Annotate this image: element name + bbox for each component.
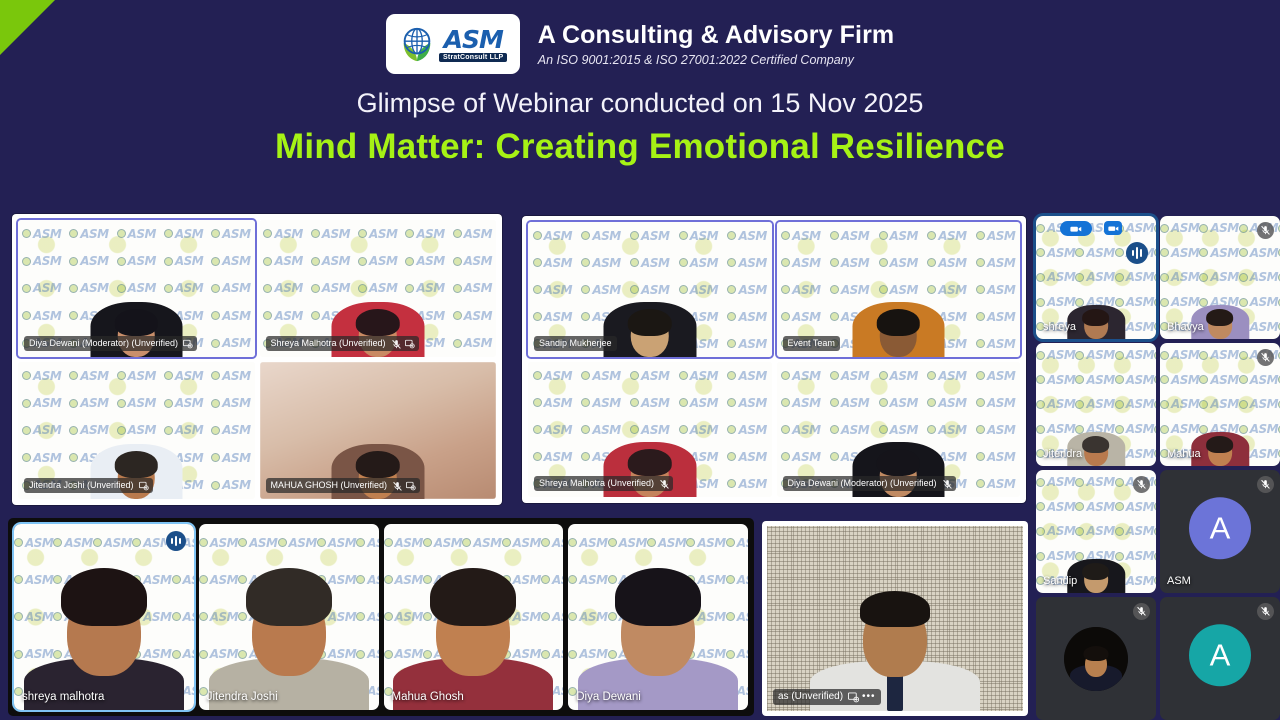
- asm-watermark: ASM: [976, 337, 1015, 351]
- asm-watermark: ASM: [781, 256, 820, 270]
- asm-watermark: ASM: [533, 310, 572, 324]
- participant-nameplate: Diya Dewani (Moderator) (Unverified): [24, 336, 197, 351]
- video-tile[interactable]: ASMASMASMASMASMASMASMASMASMASMASMASMASMA…: [528, 222, 772, 357]
- asm-watermark: ASM: [1075, 348, 1114, 362]
- asm-watermark: ASM: [1075, 475, 1114, 489]
- asm-watermark: ASM: [263, 309, 302, 323]
- filmstrip-participant-name: Mahua Ghosh: [392, 691, 464, 703]
- asm-watermark: ASM: [976, 229, 1015, 243]
- asm-watermark: ASM: [22, 227, 61, 241]
- asm-watermark: ASM: [263, 254, 302, 268]
- share-screen-icon: [406, 481, 415, 490]
- asm-watermark: ASM: [117, 369, 156, 383]
- asm-watermark: ASM: [727, 229, 766, 243]
- asm-watermark: ASM: [727, 337, 766, 351]
- sidebar-participant-tile[interactable]: ASMASMASMASMASMASMASMASMASMASMASMASMASMA…: [1036, 343, 1156, 466]
- participant-figure: [573, 560, 743, 710]
- asm-watermark: ASM: [727, 450, 766, 464]
- share-screen-icon: [183, 339, 192, 348]
- asm-watermark: ASM: [1036, 373, 1075, 387]
- participant-nameplate: Jitendra Joshi (Unverified): [24, 478, 153, 493]
- globe-leaf-icon: [398, 25, 436, 63]
- asm-watermark: ASM: [647, 536, 686, 550]
- asm-watermark: ASM: [117, 227, 156, 241]
- sidebar-participant-name: Jitendra: [1043, 448, 1082, 460]
- asm-watermark: ASM: [211, 281, 250, 295]
- asm-watermark: ASM: [976, 283, 1015, 297]
- sidebar-participant-tile[interactable]: ASMASMASMASMASMASMASMASMASMASMASMASMASMA…: [1160, 343, 1280, 466]
- asm-watermark: ASM: [356, 536, 378, 550]
- asm-watermark: ASM: [830, 229, 869, 243]
- asm-watermark: ASM: [1075, 246, 1114, 260]
- asm-watermark: ASM: [630, 369, 669, 383]
- video-tile[interactable]: ASMASMASMASMASMASMASMASMASMASMASMASMASMA…: [18, 362, 255, 499]
- solo-speaker-panel: as (Unverified) •••: [762, 521, 1028, 716]
- mic-off-icon: [942, 479, 951, 488]
- asm-watermark: ASM: [727, 396, 766, 410]
- webinar-title: Mind Matter: Creating Emotional Resilien…: [275, 127, 1005, 167]
- asm-watermark: ASM: [686, 536, 725, 550]
- asm-watermark: ASM: [1115, 500, 1154, 514]
- center-grid: ASMASMASMASMASMASMASMASMASMASMASMASMASMA…: [528, 222, 1020, 497]
- asm-watermark: ASM: [263, 281, 302, 295]
- participant-nameplate: Shreya Malhotra (Unverified): [534, 476, 673, 491]
- asm-watermark: ASM: [238, 536, 277, 550]
- asm-watermark: ASM: [453, 227, 492, 241]
- asm-watermark: ASM: [1154, 373, 1156, 387]
- solo-speaker-name: as (Unverified): [778, 691, 843, 704]
- asm-watermark: ASM: [453, 254, 492, 268]
- asm-watermark: ASM: [1154, 447, 1156, 461]
- sidebar-participant-tile[interactable]: AASM: [1160, 470, 1280, 593]
- sidebar-participant-tile[interactable]: ASMASMASMASMASMASMASMASMASMASMASMASMASMA…: [1160, 216, 1280, 339]
- asm-watermark: ASM: [211, 254, 250, 268]
- asm-watermark: ASM: [727, 423, 766, 437]
- audio-wave-icon: [166, 531, 186, 551]
- asm-watermark: ASM: [727, 477, 766, 491]
- asm-watermark: ASM: [263, 227, 302, 241]
- asm-watermark: ASM: [211, 309, 250, 323]
- left-grid: ASMASMASMASMASMASMASMASMASMASMASMASMASMA…: [18, 220, 496, 499]
- video-tile[interactable]: ASMASMASMASMASMASMASMASMASMASMASMASMASMA…: [777, 362, 1021, 497]
- asm-watermark: ASM: [541, 536, 563, 550]
- asm-watermark: ASM: [1115, 348, 1154, 362]
- filmstrip-participant-tile[interactable]: ASMASMASMASMASMASMASMASMASMASMASMASMASMA…: [14, 524, 194, 710]
- asm-watermark: ASM: [726, 536, 748, 550]
- asm-watermark: ASM: [679, 229, 718, 243]
- asm-watermark: ASM: [533, 229, 572, 243]
- asm-watermark: ASM: [164, 369, 203, 383]
- asm-watermark: ASM: [1160, 221, 1199, 235]
- brand-subtitle: An ISO 9001:2015 & ISO 27001:2022 Certif…: [538, 53, 895, 67]
- asm-watermark: ASM: [976, 450, 1015, 464]
- asm-watermark: ASM: [211, 369, 250, 383]
- asm-watermark: ASM: [1036, 500, 1075, 514]
- asm-watermark: ASM: [1199, 373, 1238, 387]
- asm-watermark: ASM: [781, 423, 820, 437]
- asm-logo: ASM StratConsult LLP: [386, 14, 520, 74]
- sidebar-participant-name: Mahua: [1167, 448, 1201, 460]
- brand-title: A Consulting & Advisory Firm: [538, 21, 895, 50]
- video-tile[interactable]: ASMASMASMASMASMASMASMASMASMASMASMASMASMA…: [260, 220, 497, 357]
- asm-watermark: ASM: [317, 536, 356, 550]
- filmstrip-participant-name: shreya malhotra: [22, 691, 104, 703]
- asm-watermark: ASM: [976, 369, 1015, 383]
- participant-nameplate: Diya Dewani (Moderator) (Unverified): [783, 476, 956, 491]
- asm-watermark: ASM: [1115, 373, 1154, 387]
- asm-watermark: ASM: [1036, 348, 1075, 362]
- mic-off-icon: [1257, 349, 1274, 366]
- asm-watermark: ASM: [976, 396, 1015, 410]
- asm-watermark: ASM: [1154, 221, 1156, 235]
- participant-figure: [388, 560, 558, 710]
- sidebar-participant-tile[interactable]: A: [1160, 597, 1280, 720]
- asm-watermark: ASM: [927, 369, 966, 383]
- left-video-grid-panel: ASMASMASMASMASMASMASMASMASMASMASMASMASMA…: [12, 214, 502, 505]
- asm-watermark: ASM: [164, 227, 203, 241]
- sidebar-participant-name: ASM: [1167, 575, 1191, 587]
- asm-watermark: ASM: [502, 536, 541, 550]
- asm-watermark: ASM: [453, 281, 492, 295]
- mic-off-icon: [391, 339, 400, 348]
- asm-watermark: ASM: [358, 227, 397, 241]
- mic-off-icon: [1257, 476, 1274, 493]
- participant-figure: [604, 261, 697, 357]
- asm-watermark: ASM: [1154, 549, 1156, 563]
- brand-text: A Consulting & Advisory Firm An ISO 9001…: [538, 21, 895, 67]
- asm-watermark: ASM: [781, 369, 820, 383]
- participant-name: Sandip Mukherjee: [539, 338, 612, 349]
- asm-watermark: ASM: [462, 536, 501, 550]
- participant-name: Event Team: [788, 338, 835, 349]
- participant-name: Diya Dewani (Moderator) (Unverified): [29, 338, 178, 349]
- sidebar-participant-tile[interactable]: [1036, 597, 1156, 720]
- asm-watermark: ASM: [93, 536, 132, 550]
- asm-watermark: ASM: [976, 256, 1015, 270]
- asm-watermark: ASM: [976, 310, 1015, 324]
- asm-watermark: ASM: [976, 423, 1015, 437]
- asm-watermark: ASM: [679, 369, 718, 383]
- brand-row: ASM StratConsult LLP A Consulting & Advi…: [386, 14, 895, 74]
- asm-watermark: ASM: [22, 451, 61, 465]
- solo-speaker-nameplate: as (Unverified) •••: [773, 689, 881, 706]
- participant-figure: [204, 560, 374, 710]
- asm-watermark: ASM: [22, 254, 61, 268]
- asm-watermark: ASM: [533, 256, 572, 270]
- asm-watermark: ASM: [1075, 373, 1114, 387]
- audio-wave-icon: [1126, 242, 1148, 264]
- video-tile[interactable]: ASMASMASMASMASMASMASMASMASMASMASMASMASMA…: [18, 220, 255, 357]
- asm-watermark: ASM: [22, 396, 61, 410]
- asm-watermark: ASM: [927, 229, 966, 243]
- asm-watermark: ASM: [1154, 348, 1156, 362]
- participant-nameplate: Event Team: [783, 336, 840, 351]
- asm-watermark: ASM: [211, 336, 250, 350]
- video-tile[interactable]: MAHUA GHOSH (Unverified): [260, 362, 497, 499]
- avatar: [1064, 627, 1128, 691]
- participant-figure: [19, 560, 189, 710]
- share-screen-icon: [139, 481, 148, 490]
- logo-asm-text: ASM: [444, 27, 503, 52]
- asm-watermark: ASM: [1160, 373, 1199, 387]
- asm-watermark: ASM: [22, 281, 61, 295]
- corner-accent-triangle: [0, 0, 55, 55]
- filmstrip-participant-tile[interactable]: ASMASMASMASMASMASMASMASMASMASMASMASMASMA…: [384, 524, 564, 710]
- asm-watermark: ASM: [53, 536, 92, 550]
- asm-watermark: ASM: [1036, 246, 1075, 260]
- participant-nameplate: Sandip Mukherjee: [534, 336, 617, 351]
- asm-watermark: ASM: [568, 536, 607, 550]
- asm-watermark: ASM: [1075, 500, 1114, 514]
- participant-name: Shreya Malhotra (Unverified): [539, 478, 654, 489]
- asm-watermark: ASM: [211, 227, 250, 241]
- share-screen-icon: [405, 339, 414, 348]
- asm-watermark: ASM: [879, 369, 918, 383]
- asm-watermark: ASM: [630, 229, 669, 243]
- asm-watermark: ASM: [211, 451, 250, 465]
- logo-sub-text: StratConsult LLP: [439, 53, 507, 62]
- asm-watermark: ASM: [278, 536, 317, 550]
- asm-watermark: ASM: [22, 423, 61, 437]
- asm-watermark: ASM: [533, 450, 572, 464]
- participant-name: MAHUA GHOSH (Unverified): [271, 480, 388, 491]
- asm-watermark: ASM: [1199, 348, 1238, 362]
- asm-watermark: ASM: [1036, 475, 1075, 489]
- asm-watermark: ASM: [727, 369, 766, 383]
- solo-speaker-video: as (Unverified) •••: [767, 526, 1023, 711]
- mic-off-icon: [1257, 603, 1274, 620]
- mic-off-icon: [1257, 222, 1274, 239]
- asm-watermark: ASM: [453, 309, 492, 323]
- video-tile[interactable]: ASMASMASMASMASMASMASMASMASMASMASMASMASMA…: [777, 222, 1021, 357]
- asm-watermark: ASM: [1160, 246, 1199, 260]
- asm-watermark: ASM: [533, 396, 572, 410]
- asm-watermark: ASM: [727, 283, 766, 297]
- share-screen-icon[interactable]: [848, 692, 857, 701]
- asm-watermark: ASM: [533, 369, 572, 383]
- asm-watermark: ASM: [1154, 574, 1156, 588]
- bottom-filmstrip[interactable]: ASMASMASMASMASMASMASMASMASMASMASMASMASMA…: [8, 518, 754, 716]
- asm-watermark: ASM: [533, 423, 572, 437]
- avatar: A: [1189, 624, 1251, 686]
- asm-watermark: ASM: [1154, 295, 1156, 309]
- mic-off-icon: [1133, 476, 1150, 493]
- participant-nameplate: Shreya Malhotra (Unverified): [266, 336, 419, 351]
- center-video-grid-panel: ASMASMASMASMASMASMASMASMASMASMASMASMASMA…: [522, 216, 1026, 503]
- header: ASM StratConsult LLP A Consulting & Advi…: [0, 0, 1280, 200]
- asm-watermark: ASM: [581, 229, 620, 243]
- sidebar-participant-name: shreya: [1043, 321, 1076, 333]
- asm-watermark: ASM: [1154, 475, 1156, 489]
- asm-watermark: ASM: [1154, 422, 1156, 436]
- asm-watermark: ASM: [1199, 246, 1238, 260]
- mic-off-icon: [1133, 603, 1150, 620]
- asm-watermark: ASM: [1154, 320, 1156, 334]
- filmstrip-participant-name: Jitendra Joshi: [207, 691, 278, 703]
- asm-watermark: ASM: [727, 310, 766, 324]
- asm-watermark: ASM: [69, 227, 108, 241]
- asm-watermark: ASM: [211, 423, 250, 437]
- participant-name: Jitendra Joshi (Unverified): [29, 480, 134, 491]
- asm-watermark: ASM: [384, 536, 423, 550]
- asm-watermark: ASM: [14, 536, 53, 550]
- asm-watermark: ASM: [727, 256, 766, 270]
- asm-watermark: ASM: [830, 369, 869, 383]
- camera-pill-icon[interactable]: [1104, 221, 1122, 235]
- asm-watermark: ASM: [976, 477, 1015, 491]
- asm-watermark: ASM: [1154, 500, 1156, 514]
- asm-watermark: ASM: [423, 536, 462, 550]
- asm-watermark: ASM: [199, 536, 238, 550]
- asm-watermark: ASM: [1199, 221, 1238, 235]
- sidebar-participant-tile[interactable]: ASMASMASMASMASMASMASMASMASMASMASMASMASMA…: [1036, 470, 1156, 593]
- asm-watermark: ASM: [211, 478, 250, 492]
- participant-nameplate: MAHUA GHOSH (Unverified): [266, 478, 421, 493]
- mic-off-icon: [659, 479, 668, 488]
- asm-watermark: ASM: [781, 450, 820, 464]
- sidebar-participant-name: Bhavya: [1167, 321, 1204, 333]
- asm-watermark: ASM: [405, 227, 444, 241]
- asm-watermark: ASM: [533, 283, 572, 297]
- asm-watermark: ASM: [69, 369, 108, 383]
- asm-watermark: ASM: [1154, 524, 1156, 538]
- sidebar-participant-name: Sandip: [1043, 575, 1077, 587]
- asm-watermark: ASM: [311, 227, 350, 241]
- asm-watermark: ASM: [1154, 397, 1156, 411]
- asm-watermark: ASM: [1154, 270, 1156, 284]
- more-options-icon[interactable]: •••: [862, 691, 876, 704]
- asm-watermark: ASM: [879, 229, 918, 243]
- mic-off-icon: [392, 481, 401, 490]
- asm-watermark: ASM: [608, 536, 647, 550]
- logo-wordmark: ASM StratConsult LLP: [439, 27, 507, 62]
- asm-watermark: ASM: [22, 369, 61, 383]
- participant-sidebar[interactable]: ASMASMASMASMASMASMASMASMASMASMASMASMASMA…: [1036, 216, 1280, 720]
- sidebar-participant-tile[interactable]: ASMASMASMASMASMASMASMASMASMASMASMASMASMA…: [1036, 216, 1156, 339]
- asm-watermark: ASM: [453, 336, 492, 350]
- participant-name: Diya Dewani (Moderator) (Unverified): [788, 478, 937, 489]
- video-pill-icon[interactable]: [1060, 221, 1092, 236]
- asm-watermark: ASM: [1154, 246, 1156, 260]
- avatar: A: [1189, 497, 1251, 559]
- asm-watermark: ASM: [1239, 246, 1278, 260]
- asm-watermark: ASM: [22, 309, 61, 323]
- video-tile[interactable]: ASMASMASMASMASMASMASMASMASMASMASMASMASMA…: [528, 362, 772, 497]
- asm-watermark: ASM: [1160, 348, 1199, 362]
- asm-watermark: ASM: [581, 369, 620, 383]
- filmstrip-participant-tile[interactable]: ASMASMASMASMASMASMASMASMASMASMASMASMASMA…: [199, 524, 379, 710]
- asm-watermark: ASM: [781, 310, 820, 324]
- asm-watermark: ASM: [781, 229, 820, 243]
- filmstrip-participant-tile[interactable]: ASMASMASMASMASMASMASMASMASMASMASMASMASMA…: [568, 524, 748, 710]
- asm-watermark: ASM: [781, 283, 820, 297]
- filmstrip-participant-name: Diya Dewani: [576, 691, 641, 703]
- participant-figure: [852, 261, 945, 357]
- participant-name: Shreya Malhotra (Unverified): [271, 338, 386, 349]
- asm-watermark: ASM: [211, 396, 250, 410]
- asm-watermark: ASM: [781, 396, 820, 410]
- webinar-date-line: Glimpse of Webinar conducted on 15 Nov 2…: [357, 88, 924, 119]
- asm-watermark: ASM: [1239, 373, 1278, 387]
